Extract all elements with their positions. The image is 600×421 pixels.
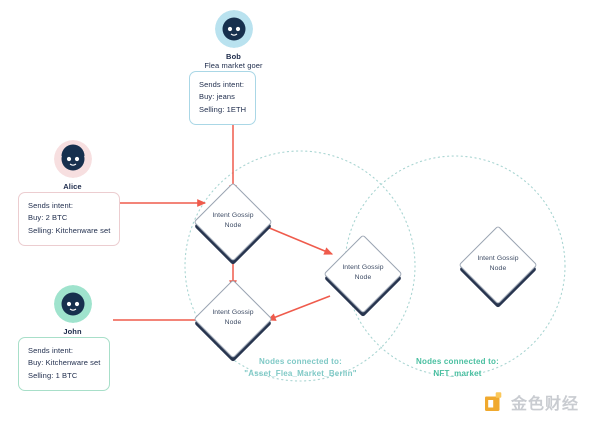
arrow-node-top-left-to-middle [267, 227, 332, 254]
actor-role: Flea market goer [196, 61, 271, 71]
caption-line2: NFT_market [395, 368, 520, 380]
intent-header: Sends intent: [28, 345, 100, 357]
intent-gossip-node-middle[interactable]: Intent Gossip Node [335, 246, 391, 302]
node-label: Intent Gossip Node [193, 211, 273, 231]
watermark: 金色财经 [484, 390, 579, 414]
node-label-line1: Intent Gossip [342, 264, 383, 271]
node-label-line2: Node [490, 265, 507, 272]
node-label-line2: Node [355, 274, 372, 281]
jinse-logo-icon [484, 391, 506, 413]
intent-sell: Selling: Kitchenware set [28, 225, 110, 237]
intent-bubble-alice: Sends intent: Buy: 2 BTC Selling: Kitche… [18, 192, 120, 246]
circle-caption-nft-market: Nodes connected to: NFT_market [395, 356, 520, 381]
person-avatar-icon [54, 140, 92, 178]
watermark-text: 金色财经 [511, 390, 579, 414]
actor-bob: Bob Flea market goer [196, 10, 271, 71]
intent-gossip-node-top-left[interactable]: Intent Gossip Node [205, 194, 261, 250]
node-label: Intent Gossip Node [193, 308, 273, 328]
node-label-line2: Node [225, 319, 242, 326]
node-label-line1: Intent Gossip [477, 255, 518, 262]
node-label: Intent Gossip Node [458, 254, 538, 274]
intent-buy: Buy: 2 BTC [28, 212, 110, 224]
caption-line2: "Asset_Flea_Market_Berlin" [218, 368, 383, 380]
node-label-line1: Intent Gossip [212, 309, 253, 316]
intent-header: Sends intent: [199, 79, 246, 91]
person-avatar-icon [215, 10, 253, 48]
intent-sell: Selling: 1 BTC [28, 370, 100, 382]
caption-line1: Nodes connected to: [395, 356, 520, 368]
intent-sell: Selling: 1ETH [199, 104, 246, 116]
actor-name: John [35, 327, 110, 336]
intent-bubble-bob: Sends intent: Buy: jeans Selling: 1ETH [189, 71, 256, 125]
diagram-canvas: Bob Flea market goer Sends intent: Buy: … [0, 0, 600, 421]
intent-buy: Buy: jeans [199, 91, 246, 103]
actor-name: Bob [196, 52, 271, 61]
actor-name: Alice [35, 182, 110, 191]
intent-gossip-node-bottom-left[interactable]: Intent Gossip Node [205, 291, 261, 347]
node-label-line1: Intent Gossip [212, 212, 253, 219]
intent-gossip-node-right[interactable]: Intent Gossip Node [470, 237, 526, 293]
arrow-node-middle-to-bottom-left [268, 296, 330, 320]
intent-bubble-john: Sends intent: Buy: Kitchenware set Selli… [18, 337, 110, 391]
node-label-line2: Node [225, 222, 242, 229]
node-label: Intent Gossip Node [323, 263, 403, 283]
intent-header: Sends intent: [28, 200, 110, 212]
person-avatar-icon [54, 285, 92, 323]
caption-line1: Nodes connected to: [218, 356, 383, 368]
circle-caption-flea-market: Nodes connected to: "Asset_Flea_Market_B… [218, 356, 383, 381]
intent-buy: Buy: Kitchenware set [28, 357, 100, 369]
